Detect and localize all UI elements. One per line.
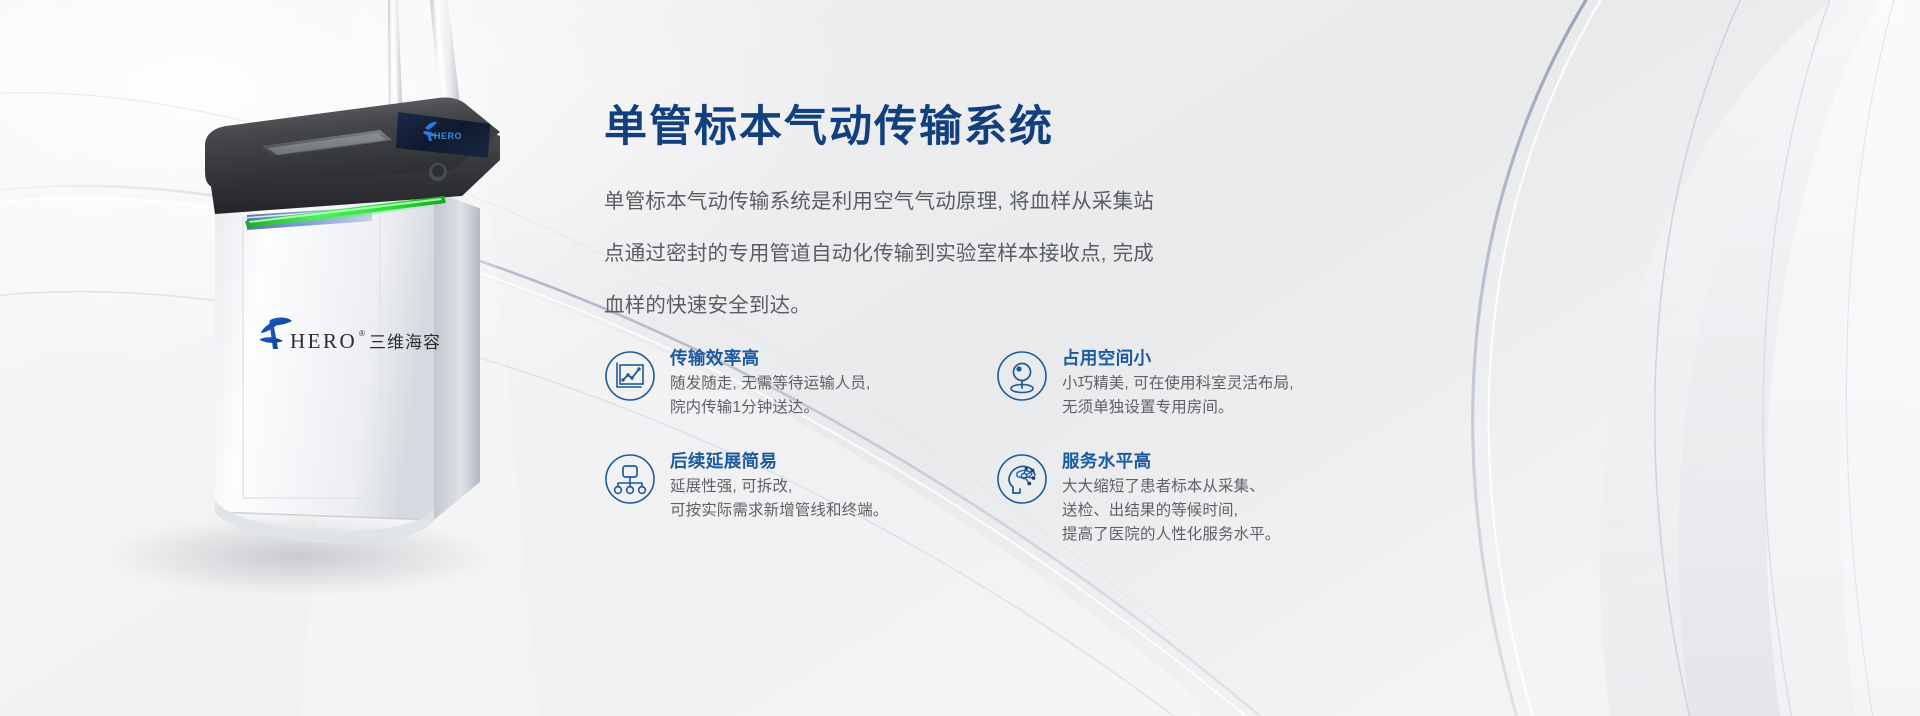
feature-item-easy-expansion[interactable]: 后续延展简易 延展性强, 可拆改, 可按实际需求新增管线和终端。 <box>604 447 996 547</box>
feature-description: 随发随走, 无需等待运输人员, 院内传输1分钟送达。 <box>670 372 870 420</box>
feature-desc-line: 可按实际需求新增管线和终端。 <box>670 499 888 523</box>
feature-desc-line: 送检、出结果的等候时间, <box>1062 499 1280 523</box>
feature-desc-line: 大大缩短了患者标本从采集、 <box>1062 475 1280 499</box>
feature-item-transmission-efficiency[interactable]: 传输效率高 随发随走, 无需等待运输人员, 院内传输1分钟送达。 <box>604 344 996 449</box>
feature-list: 传输效率高 随发随走, 无需等待运输人员, 院内传输1分钟送达。 <box>604 344 1274 547</box>
intro-line-2: 点通过密封的专用管道自动化传输到实验室样本接收点, 完成 <box>604 228 1254 280</box>
feature-text: 服务水平高 大大缩短了患者标本从采集、 送检、出结果的等候时间, 提高了医院的人… <box>1062 447 1280 547</box>
hero-banner: HERO HERO ® 三维海容 <box>0 0 1920 716</box>
content-column: 单管标本气动传输系统 单管标本气动传输系统是利用空气气动原理, 将血样从采集站 … <box>604 0 1304 716</box>
intro-paragraph: 单管标本气动传输系统是利用空气气动原理, 将血样从采集站 点通过密封的专用管道自… <box>604 176 1254 332</box>
intro-line-3: 血样的快速安全到达。 <box>604 280 1254 332</box>
feature-title: 传输效率高 <box>670 346 870 370</box>
feature-desc-line: 延展性强, 可拆改, <box>670 475 888 499</box>
feature-description: 大大缩短了患者标本从采集、 送检、出结果的等候时间, 提高了医院的人性化服务水平… <box>1062 475 1280 547</box>
feature-desc-line: 随发随走, 无需等待运输人员, <box>670 372 870 396</box>
feature-text: 占用空间小 小巧精美, 可在使用科室灵活布局, 无须单独设置专用房间。 <box>1062 344 1294 420</box>
location-pin-icon <box>996 350 1048 402</box>
svg-text:HERO: HERO <box>434 131 462 141</box>
intro-line-1: 单管标本气动传输系统是利用空气气动原理, 将血样从采集站 <box>604 176 1254 228</box>
feature-desc-line: 小巧精美, 可在使用科室灵活布局, <box>1062 372 1294 396</box>
feature-desc-line: 院内传输1分钟送达。 <box>670 396 870 420</box>
registered-mark: ® <box>359 329 365 338</box>
feature-desc-line: 无须单独设置专用房间。 <box>1062 396 1294 420</box>
hero-wordmark: HERO <box>290 329 357 353</box>
feature-text: 后续延展简易 延展性强, 可拆改, 可按实际需求新增管线和终端。 <box>670 447 888 523</box>
feature-title: 后续延展简易 <box>670 449 888 473</box>
feature-title: 服务水平高 <box>1062 449 1280 473</box>
line-chart-icon <box>604 350 656 402</box>
hero-chinese-name: 三维海容 <box>369 333 441 352</box>
page-title: 单管标本气动传输系统 <box>604 92 1054 154</box>
hierarchy-network-icon <box>604 453 656 505</box>
feature-item-service-level[interactable]: 服务水平高 大大缩短了患者标本从采集、 送检、出结果的等候时间, 提高了医院的人… <box>996 447 1274 547</box>
feature-description: 延展性强, 可拆改, 可按实际需求新增管线和终端。 <box>670 475 888 523</box>
ai-head-icon <box>996 453 1048 505</box>
feature-description: 小巧精美, 可在使用科室灵活布局, 无须单独设置专用房间。 <box>1062 372 1294 420</box>
feature-text: 传输效率高 随发随走, 无需等待运输人员, 院内传输1分钟送达。 <box>670 344 870 420</box>
feature-title: 占用空间小 <box>1062 346 1294 370</box>
pneumatic-tube-station-render: HERO HERO ® 三维海容 <box>0 0 560 716</box>
product-image: HERO HERO ® 三维海容 <box>0 0 560 716</box>
feature-item-small-footprint[interactable]: 占用空间小 小巧精美, 可在使用科室灵活布局, 无须单独设置专用房间。 <box>996 344 1274 449</box>
feature-desc-line: 提高了医院的人性化服务水平。 <box>1062 523 1280 547</box>
